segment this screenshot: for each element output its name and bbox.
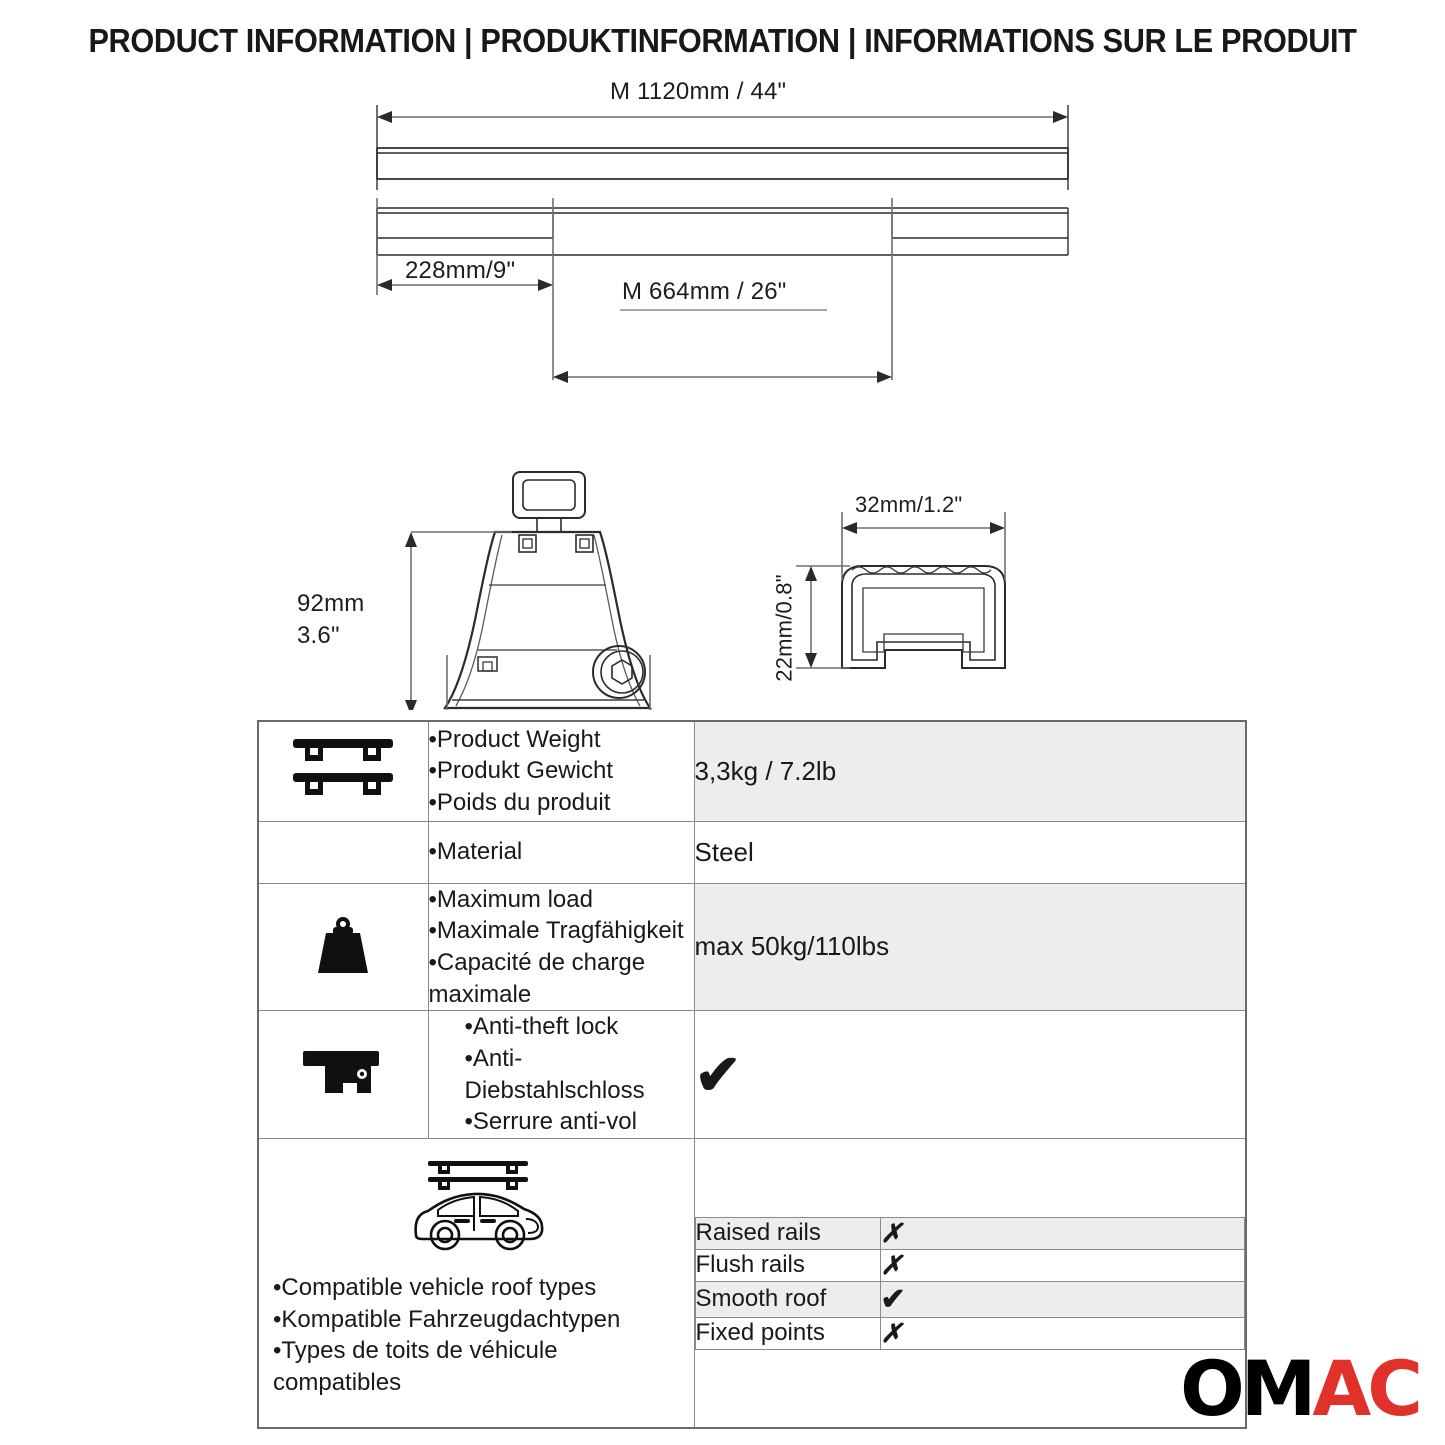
- label-line: •Maximale Tragfähigkeit: [429, 915, 694, 947]
- roof-option-label: Raised rails: [695, 1217, 880, 1249]
- label-line: •Poids du produit: [429, 787, 694, 819]
- lock-value-cell: ✔: [694, 1011, 1246, 1139]
- table-row: •Maximum load •Maximale Tragfähigkeit •C…: [258, 883, 1246, 1011]
- dim-bar-length: M 1120mm / 44": [610, 78, 786, 106]
- dim-foot-height: 92mm: [297, 590, 364, 618]
- label-line: •Material: [429, 836, 694, 868]
- drawing-svg: [0, 80, 1445, 710]
- weight-row-label-cell: •Product Weight •Produkt Gewicht •Poids …: [428, 721, 694, 821]
- logo-text-dark: OM: [1180, 1344, 1312, 1433]
- roof-option-label: Flush rails: [695, 1249, 880, 1281]
- lock-row-label-cell: •Anti-theft lock •Anti-Diebstahlschloss …: [428, 1011, 694, 1139]
- car-icon-wrap: [273, 1153, 684, 1268]
- label-line: •Types de toits de véhicule compatibles: [273, 1335, 684, 1398]
- roof-options-cell: Raised rails ✗ Flush rails ✗ Smooth roof…: [694, 1138, 1246, 1428]
- roof-option-mark: ✗: [880, 1249, 1245, 1281]
- material-row-label-cell: •Material: [428, 821, 694, 883]
- roof-option-label: Fixed points: [695, 1317, 880, 1349]
- omac-logo: OMAC: [1180, 1351, 1419, 1427]
- technical-drawing: M 1120mm / 44" 228mm/9" M 664mm / 26" 92…: [0, 80, 1445, 710]
- maxload-row-icon-cell: [258, 883, 428, 1011]
- roof-row-label-cell: •Compatible vehicle roof types •Kompatib…: [258, 1138, 694, 1428]
- roof-option-mark: ✔: [880, 1281, 1245, 1317]
- table-row: •Material Steel: [258, 821, 1246, 883]
- crossbars-icon: [287, 733, 399, 805]
- logo-text-red: AC: [1312, 1344, 1419, 1433]
- label-line: •Compatible vehicle roof types: [273, 1272, 684, 1304]
- product-information-sheet: PRODUCT INFORMATION | PRODUKTINFORMATION…: [0, 0, 1445, 1445]
- roof-option-row: Flush rails ✗: [695, 1249, 1245, 1281]
- roof-options-table: Raised rails ✗ Flush rails ✗ Smooth roof…: [695, 1217, 1246, 1350]
- dim-foot-height-inch: 3.6": [297, 622, 340, 650]
- dim-profile-width: 32mm/1.2": [855, 492, 962, 518]
- weight-icon: [306, 907, 380, 981]
- material-value-cell: Steel: [694, 821, 1246, 883]
- roof-option-row: Raised rails ✗: [695, 1217, 1245, 1249]
- roof-option-row: Smooth roof ✔: [695, 1281, 1245, 1317]
- weight-value-cell: 3,3kg / 7.2lb: [694, 721, 1246, 821]
- car-with-rack-icon: [398, 1153, 558, 1263]
- roof-option-label: Smooth roof: [695, 1281, 880, 1317]
- maxload-row-label-cell: •Maximum load •Maximale Tragfähigkeit •C…: [428, 883, 694, 1011]
- label-line: •Anti-Diebstahlschloss: [465, 1043, 694, 1106]
- lock-icon: [297, 1041, 389, 1103]
- label-line: •Capacité de charge maximale: [429, 947, 694, 1010]
- label-line: •Serrure anti-vol: [465, 1106, 694, 1138]
- roof-option-mark: ✗: [880, 1217, 1245, 1249]
- label-line: •Produkt Gewicht: [429, 755, 694, 787]
- label-line: •Kompatible Fahrzeugdachtypen: [273, 1304, 684, 1336]
- specifications-table: •Product Weight •Produkt Gewicht •Poids …: [257, 720, 1247, 1429]
- maxload-value-cell: max 50kg/110lbs: [694, 883, 1246, 1011]
- dim-end-offset: 228mm/9": [405, 257, 515, 285]
- dim-profile-height: 22mm/0.8": [772, 574, 798, 681]
- material-row-icon-cell: [258, 821, 428, 883]
- page-title: PRODUCT INFORMATION | PRODUKTINFORMATION…: [51, 22, 1395, 60]
- dim-spread: M 664mm / 26": [622, 278, 787, 306]
- weight-row-icon-cell: [258, 721, 428, 821]
- table-row: •Anti-theft lock •Anti-Diebstahlschloss …: [258, 1011, 1246, 1139]
- roof-row-labels: •Compatible vehicle roof types •Kompatib…: [273, 1272, 684, 1399]
- lock-row-icon-cell: [258, 1011, 428, 1139]
- table-row: •Product Weight •Produkt Gewicht •Poids …: [258, 721, 1246, 821]
- label-line: •Anti-theft lock: [465, 1011, 694, 1043]
- table-row: •Compatible vehicle roof types •Kompatib…: [258, 1138, 1246, 1428]
- roof-option-row: Fixed points ✗: [695, 1317, 1245, 1349]
- label-line: •Maximum load: [429, 884, 694, 916]
- label-line: •Product Weight: [429, 724, 694, 756]
